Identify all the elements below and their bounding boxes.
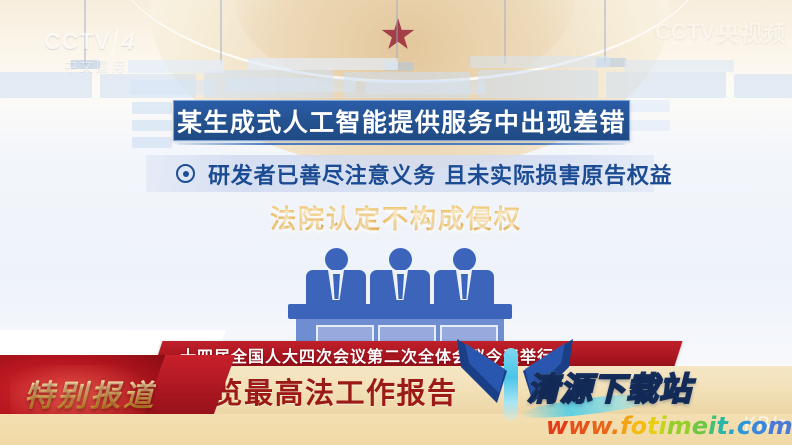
- url-char: t: [716, 412, 727, 440]
- download-site-logo: 清源下载站: [527, 364, 692, 410]
- broadcast-screen: CCTV 4 中文国际 CCTV 央视频 中文国际 某生成式人工智能提供服务中出…: [0, 0, 792, 445]
- bench-top: [288, 304, 512, 319]
- url-char: w: [546, 412, 568, 440]
- verdict-line: 法院认定不构成侵权: [0, 199, 792, 236]
- url-char: t: [647, 412, 658, 440]
- headline-main-text: 某生成式人工智能提供服务中出现差错: [177, 103, 626, 139]
- hall-window: [478, 70, 598, 98]
- url-char: m: [768, 412, 792, 440]
- deco-block: [226, 78, 356, 92]
- deco-block: [624, 60, 734, 72]
- url-char: m: [667, 412, 692, 440]
- special-report-text: 特别报道: [24, 379, 156, 414]
- judge-figure: [370, 248, 430, 306]
- hall-pillar: [396, 0, 398, 66]
- url-char: w: [590, 412, 611, 440]
- hall-pillar: [504, 0, 506, 64]
- verdict-text: 法院认定不构成侵权: [270, 205, 522, 235]
- url-char: .: [728, 412, 737, 440]
- url-char: w: [568, 412, 590, 440]
- download-site-logo-text: 清源下载站: [527, 370, 692, 408]
- special-report-label: 特别报道: [24, 371, 156, 415]
- sub-headline-text: 研发者已善尽注意义务 且未实际损害原告权益: [208, 158, 672, 190]
- url-char: e: [692, 412, 708, 440]
- hall-window: [606, 72, 726, 98]
- judge-figure: [306, 248, 366, 306]
- deco-block: [132, 102, 172, 114]
- deco-block: [630, 100, 670, 112]
- headline-banner: 某生成式人工智能提供服务中出现差错: [173, 100, 630, 141]
- target-bullet-icon: [176, 164, 195, 183]
- hall-pillar: [220, 0, 222, 64]
- url-char: c: [737, 412, 751, 440]
- deco-block: [248, 58, 398, 70]
- hall-window: [0, 72, 92, 98]
- deco-block: [130, 80, 216, 95]
- url-char: o: [751, 412, 768, 440]
- url-char: i: [659, 412, 667, 440]
- url-char: f: [620, 412, 630, 440]
- hall-window: [734, 74, 792, 98]
- deco-block: [630, 120, 670, 131]
- sub-headline-panel: 研发者已善尽注意义务 且未实际损害原告权益: [146, 155, 654, 192]
- deco-block: [128, 60, 224, 73]
- deco-block: [470, 56, 610, 68]
- hall-pillar: [84, 0, 86, 66]
- deco-block: [132, 120, 172, 131]
- deco-block: [366, 80, 486, 94]
- deco-block: [132, 137, 172, 148]
- judge-figure: [434, 248, 494, 306]
- download-site-url: www.fotimeit.com: [546, 412, 792, 440]
- hall-pillar-cap: [70, 60, 100, 69]
- hall-pillar: [604, 0, 606, 62]
- url-char: .: [611, 412, 620, 440]
- headline-underline: [178, 143, 625, 145]
- url-char: o: [631, 412, 648, 440]
